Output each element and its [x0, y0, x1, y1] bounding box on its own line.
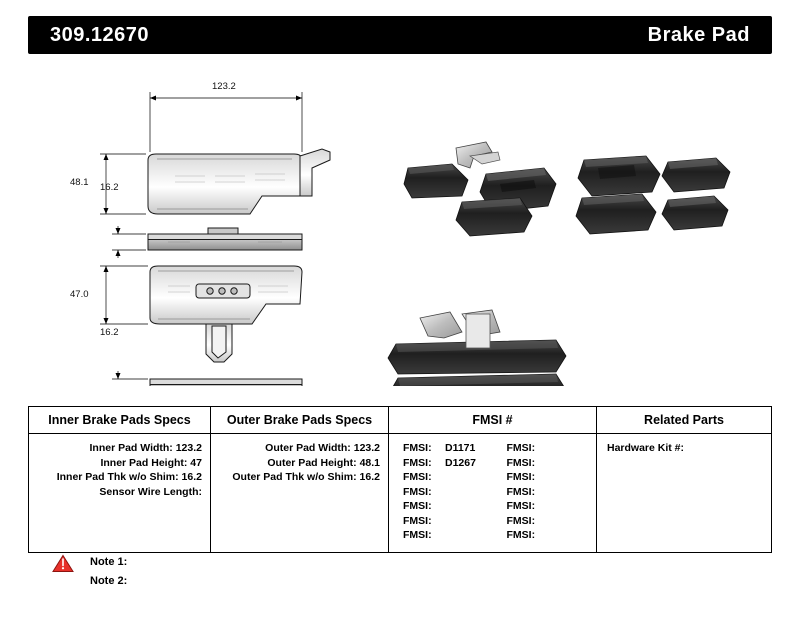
fmsi-label: FMSI:: [403, 470, 445, 485]
fmsi-row: FMSI:: [403, 470, 493, 485]
inner-specs-cell: Inner Pad Width: 123.2 Inner Pad Height:…: [29, 434, 211, 552]
drawing-svg: [0, 56, 800, 386]
fmsi-row: FMSI:: [507, 514, 597, 529]
dim-inner-pad-height: 48.1: [70, 177, 89, 188]
fmsi-label: FMSI:: [403, 456, 445, 471]
fmsi-label: FMSI:: [507, 456, 549, 471]
fmsi-label: FMSI:: [403, 499, 445, 514]
fmsi-column-left: FMSI:D1171 FMSI:D1267 FMSI: FMSI: FMSI: …: [389, 441, 493, 543]
warning-icon: [52, 554, 74, 573]
outer-spec-line: Outer Pad Width: 123.2: [211, 441, 388, 456]
outer-specs-cell: Outer Pad Width: 123.2 Outer Pad Height:…: [211, 434, 389, 552]
dim-outer-pad-thickness: 16.2: [100, 327, 119, 338]
fmsi-row: FMSI:: [507, 485, 597, 500]
header-fmsi: FMSI #: [389, 407, 597, 433]
header-inner-specs: Inner Brake Pads Specs: [29, 407, 211, 433]
outer-spec-line: Outer Pad Thk w/o Shim: 16.2: [211, 470, 388, 485]
note-1-label: Note 1:: [90, 556, 127, 568]
hardware-kit-line: Hardware Kit #:: [597, 441, 771, 456]
fmsi-row: FMSI:: [403, 528, 493, 543]
note-row-2: Note 2:: [52, 571, 292, 590]
specs-table-header-row: Inner Brake Pads Specs Outer Brake Pads …: [29, 407, 771, 434]
outer-pad-side-view: [150, 379, 302, 386]
fmsi-row: FMSI:: [403, 485, 493, 500]
fmsi-value: D1267: [445, 457, 476, 469]
fmsi-label: FMSI:: [403, 528, 445, 543]
technical-drawing: 123.2 48.1 16.2 47.0 16.2: [0, 56, 800, 386]
inner-pad-side-view: [148, 228, 302, 250]
fmsi-row: FMSI:: [507, 441, 597, 456]
fmsi-column-right: FMSI: FMSI: FMSI: FMSI: FMSI: FMSI: FMSI…: [493, 441, 597, 543]
fmsi-row: FMSI:: [507, 499, 597, 514]
related-parts-cell: Hardware Kit #:: [597, 434, 771, 552]
fmsi-row: FMSI:: [507, 528, 597, 543]
outer-spec-line: Outer Pad Height: 48.1: [211, 456, 388, 471]
fmsi-label: FMSI:: [403, 485, 445, 500]
fmsi-row: FMSI:: [403, 514, 493, 529]
fmsi-row: FMSI:: [403, 499, 493, 514]
inner-pad-outline: [148, 149, 330, 214]
fmsi-row: FMSI:D1171: [403, 441, 493, 456]
inner-spec-line: Inner Pad Width: 123.2: [29, 441, 210, 456]
fmsi-label: FMSI:: [507, 441, 549, 456]
fmsi-label: FMSI:: [507, 514, 549, 529]
wear-sensor-clip: [206, 324, 232, 362]
fmsi-cell: FMSI:D1171 FMSI:D1267 FMSI: FMSI: FMSI: …: [389, 434, 597, 552]
header-outer-specs: Outer Brake Pads Specs: [211, 407, 389, 433]
fmsi-label: FMSI:: [507, 499, 549, 514]
fmsi-label: FMSI:: [507, 528, 549, 543]
fmsi-label: FMSI:: [403, 441, 445, 456]
fmsi-row: FMSI:D1267: [403, 456, 493, 471]
page-title: Brake Pad: [648, 24, 750, 47]
note-2-label: Note 2:: [90, 575, 127, 587]
dim-outer-pad-height: 47.0: [70, 289, 89, 300]
specs-table-body: Inner Pad Width: 123.2 Inner Pad Height:…: [29, 434, 771, 552]
note-row-1: Note 1:: [52, 552, 292, 571]
header-related-parts: Related Parts: [597, 407, 771, 433]
part-number: 309.12670: [50, 24, 149, 47]
fmsi-label: FMSI:: [507, 485, 549, 500]
fmsi-value: D1171: [445, 442, 475, 454]
header-bar: 309.12670 Brake Pad: [28, 16, 772, 54]
inner-spec-line: Inner Pad Thk w/o Shim: 16.2: [29, 470, 210, 485]
specs-table: Inner Brake Pads Specs Outer Brake Pads …: [28, 406, 772, 553]
fmsi-row: FMSI:: [507, 456, 597, 471]
inner-spec-line: Inner Pad Height: 47: [29, 456, 210, 471]
inner-spec-line: Sensor Wire Length:: [29, 485, 210, 500]
fmsi-label: FMSI:: [507, 470, 549, 485]
fmsi-label: FMSI:: [403, 514, 445, 529]
outer-pad-outline: [150, 266, 302, 324]
product-photo-center: [388, 142, 730, 386]
fmsi-row: FMSI:: [507, 470, 597, 485]
notes-section: Note 1: Note 2:: [52, 552, 292, 590]
dim-inner-pad-thickness: 16.2: [100, 182, 119, 193]
dim-inner-pad-width: 123.2: [212, 81, 236, 92]
